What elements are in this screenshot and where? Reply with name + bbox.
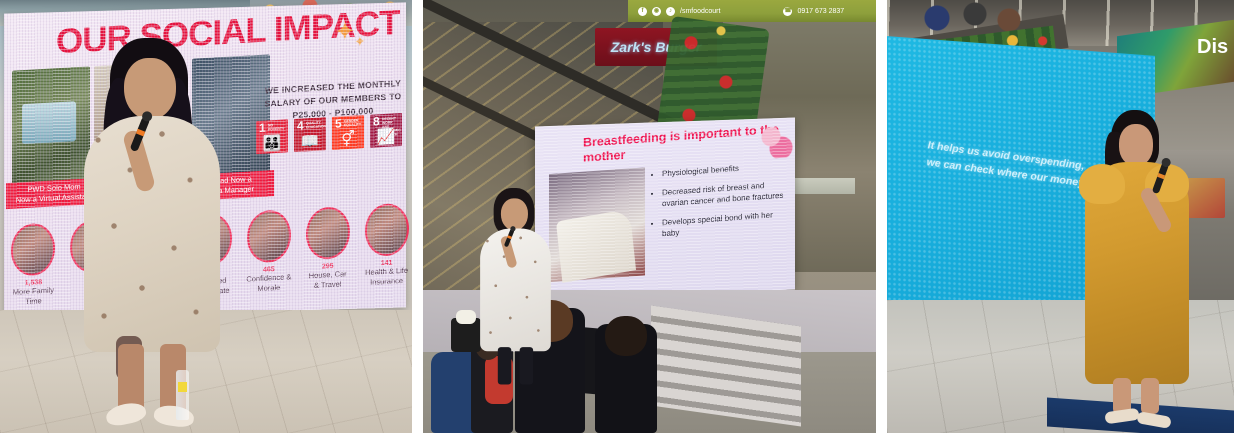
sdg-number: 8 <box>373 116 380 127</box>
stage-steps <box>651 305 801 426</box>
projector-slide-breastfeeding: Breastfeeding is important to the mother… <box>535 117 795 298</box>
stat-item: 465 Confidence & Morale <box>239 209 298 294</box>
sdg-label: QUALITY EDUCATION <box>306 120 324 129</box>
speaker-blouse <box>480 229 551 352</box>
sdg-quality-education-icon: 4 QUALITY EDUCATION 📖 <box>294 117 326 152</box>
image-gallery: OUR SOCIAL IMPACT ✦ ✦ PWD Solo Mom Now a… <box>0 0 1234 433</box>
sdg-label: NO POVERTY <box>268 122 286 131</box>
foodcourt-banner: f ◉ ♪ /smfoodcourt ☎ 0917 673 2837 <box>628 0 876 22</box>
speaker-sleeve-left <box>1079 164 1125 204</box>
photo-panel-right[interactable]: Dis It helps us avoid overspending, we c… <box>887 0 1234 433</box>
speaker-leg-right <box>520 347 534 384</box>
foodcourt-handle: /smfoodcourt <box>680 8 720 15</box>
stat-photo <box>247 209 291 263</box>
slide-title: Breastfeeding is important to the mother <box>583 121 793 166</box>
stat-item: 141 Health & Life Insurance <box>357 202 412 287</box>
sdg-glyph: 📖 <box>294 133 326 150</box>
mall-sign-text: Dis <box>1197 36 1228 59</box>
slide-bullets: Physiological benefits Decreased risk of… <box>653 159 787 247</box>
sdg-glyph: ⚥ <box>332 131 364 148</box>
sparkle-small-icon: ✦ <box>354 33 366 51</box>
stat-item: 295 House, Car & Travel <box>298 205 357 290</box>
bullet-item: Physiological benefits <box>662 159 787 179</box>
mother-baby-icon <box>757 123 793 160</box>
facebook-icon: f <box>638 7 647 16</box>
speaker-leg-left <box>498 347 512 384</box>
speaker-figure <box>1083 110 1195 395</box>
stat-photo <box>365 203 409 257</box>
sparkle-icon: ✦ <box>334 16 356 48</box>
sdg-glyph: 👪 <box>256 135 288 152</box>
speaker-face <box>124 58 176 120</box>
foodcourt-phone: 0917 673 2837 <box>797 8 844 15</box>
sdg-label: GENDER EQUALITY <box>344 118 362 127</box>
audience-head <box>605 316 647 356</box>
stat-photo <box>11 222 55 276</box>
speaker-figure <box>477 188 556 380</box>
slide-photo <box>549 167 645 282</box>
sdg-icon-row: 1 NO POVERTY 👪 4 QUALITY EDUCATION 📖 5 G… <box>256 113 402 154</box>
sdg-number: 1 <box>259 123 266 134</box>
speaker-figure <box>78 38 230 408</box>
sdg-number: 5 <box>335 118 342 129</box>
bullet-item: Decreased risk of breast and ovarian can… <box>662 178 787 209</box>
stat-label: Health & Life Insurance <box>357 265 412 287</box>
tiktok-icon: ♪ <box>666 7 675 16</box>
speaker-face <box>1119 124 1153 166</box>
stat-label: House, Car & Travel <box>298 268 357 290</box>
speaker-leg-right <box>1141 378 1159 414</box>
sdg-gender-equality-icon: 5 GENDER EQUALITY ⚥ <box>332 115 364 150</box>
sdg-decent-work-icon: 8 DECENT WORK AND ECONOMIC GROWTH 📈 <box>370 113 402 148</box>
photo-panel-middle[interactable]: f ◉ ♪ /smfoodcourt ☎ 0917 673 2837 Zark'… <box>423 0 876 433</box>
sdg-no-poverty-icon: 1 NO POVERTY 👪 <box>256 119 288 154</box>
photo-panel-left[interactable]: OUR SOCIAL IMPACT ✦ ✦ PWD Solo Mom Now a… <box>0 0 412 433</box>
sdg-number: 4 <box>297 120 304 131</box>
speaker-dress <box>84 116 220 352</box>
stat-label: More Family Time <box>4 285 63 307</box>
sdg-glyph: 📈 <box>370 129 402 146</box>
bullet-item: Develops special bond with her baby <box>662 208 787 239</box>
stat-item: 1,538 More Family Time <box>4 222 63 307</box>
phone-icon: ☎ <box>783 7 792 16</box>
water-bottle <box>176 370 189 420</box>
stat-label: Confidence & Morale <box>239 272 298 294</box>
instagram-icon: ◉ <box>652 7 661 16</box>
stat-photo <box>306 206 350 260</box>
